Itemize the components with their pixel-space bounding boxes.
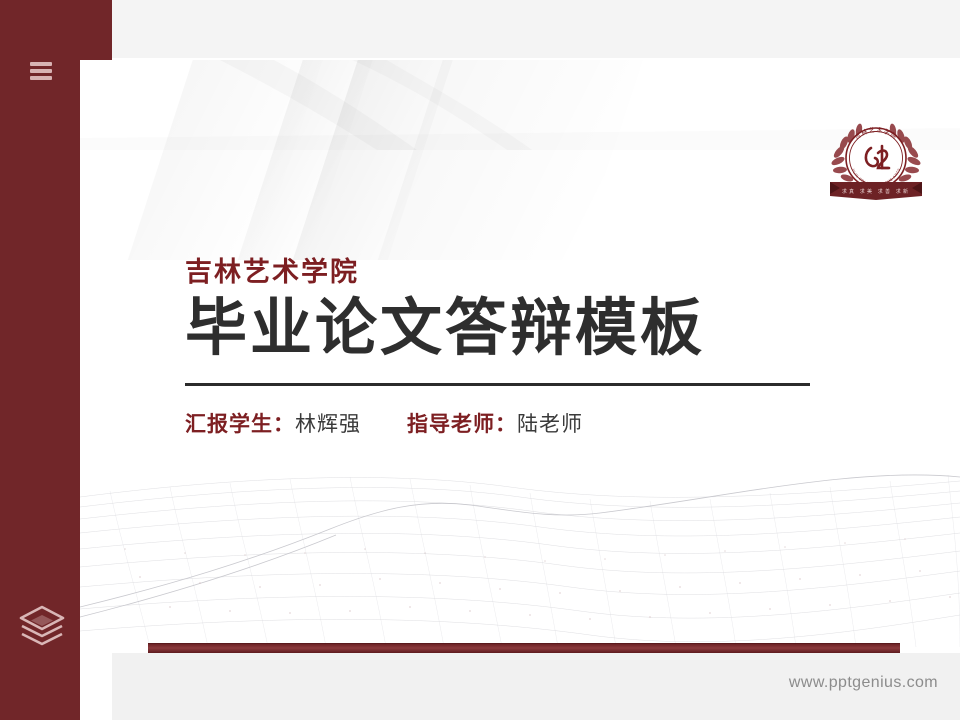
- byline-row: 汇报学生：林辉强 指导老师：陆老师: [185, 408, 885, 438]
- menu-bar-3: [30, 76, 52, 80]
- byline-student-label: 汇报学生：: [185, 413, 295, 436]
- title-divider: [185, 383, 810, 386]
- university-crest-emblem: 吉林艺术学院 JILIN COLLEGE OF THE ARTS 求真 求美 求…: [824, 108, 928, 208]
- stacked-layers-logo[interactable]: [18, 604, 66, 650]
- footer-url[interactable]: www.pptgenius.com: [789, 674, 938, 692]
- title-block: 吉林艺术学院 毕业论文答辩模板 汇报学生：林辉强 指导老师：陆老师: [185, 258, 885, 438]
- menu-bar-1: [30, 62, 52, 66]
- byline-advisor: 指导老师：陆老师: [407, 408, 583, 438]
- background-swoosh-2: [238, 60, 392, 260]
- background-swoosh-1: [128, 60, 342, 260]
- byline-student: 汇报学生：林辉强: [185, 408, 361, 438]
- hamburger-menu-icon[interactable]: [30, 62, 52, 80]
- accent-bar: [148, 643, 900, 653]
- slide-viewer: 吉林艺术学院 JILIN COLLEGE OF THE ARTS 求真 求美 求…: [0, 0, 960, 720]
- menu-bar-2: [30, 69, 52, 73]
- byline-student-value: 林辉强: [295, 413, 361, 436]
- background-swoosh-4: [378, 60, 662, 260]
- byline-advisor-value: 陆老师: [517, 413, 583, 436]
- byline-advisor-label: 指导老师：: [407, 413, 517, 436]
- background-swoosh-3: [293, 60, 472, 260]
- page-title: 毕业论文答辩模板: [185, 294, 885, 363]
- school-name: 吉林艺术学院: [185, 258, 885, 288]
- wireframe-mesh-decoration: [80, 457, 960, 647]
- slide-canvas: 吉林艺术学院 JILIN COLLEGE OF THE ARTS 求真 求美 求…: [80, 60, 960, 653]
- svg-text:求真 求美 求善 求新: 求真 求美 求善 求新: [842, 188, 910, 195]
